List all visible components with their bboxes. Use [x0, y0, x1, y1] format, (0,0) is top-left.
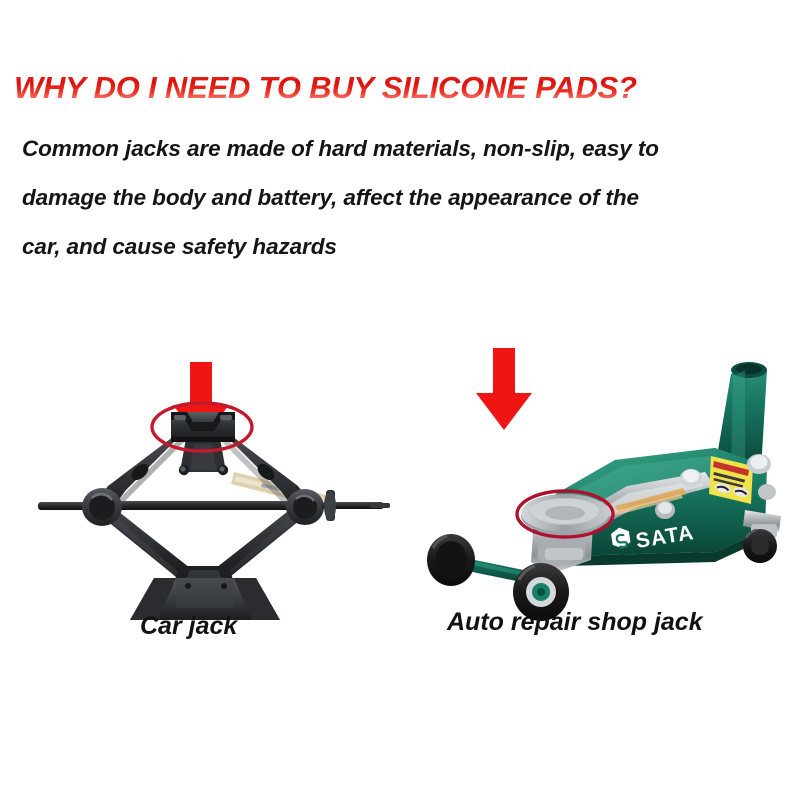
figure-shop-jack: SATA	[415, 320, 790, 640]
threaded-screw-rod	[322, 490, 390, 521]
caption-car-jack: Car jack	[140, 612, 237, 641]
body-line: damage the body and battery, affect the …	[22, 173, 742, 222]
body-paragraph: Common jacks are made of hard materials,…	[22, 124, 742, 271]
jack-saddle	[171, 412, 235, 472]
page-title: WHY DO I NEED TO BUY SILICONE PADS?	[14, 70, 637, 106]
poster-root: WHY DO I NEED TO BUY SILICONE PADS? Comm…	[0, 0, 800, 800]
inner-brace	[100, 501, 290, 510]
caption-shop-jack: Auto repair shop jack	[447, 608, 703, 637]
down-arrow-icon	[476, 348, 532, 430]
right-hinge	[286, 489, 324, 525]
body-line: Common jacks are made of hard materials,…	[22, 124, 742, 173]
left-hinge	[82, 488, 122, 526]
rear-caster-wheel	[743, 510, 781, 563]
front-left-wheel	[427, 534, 475, 586]
figure-car-jack	[30, 320, 400, 640]
saddle-pad	[521, 494, 609, 535]
body-line: car, and cause safety hazards	[22, 222, 742, 271]
